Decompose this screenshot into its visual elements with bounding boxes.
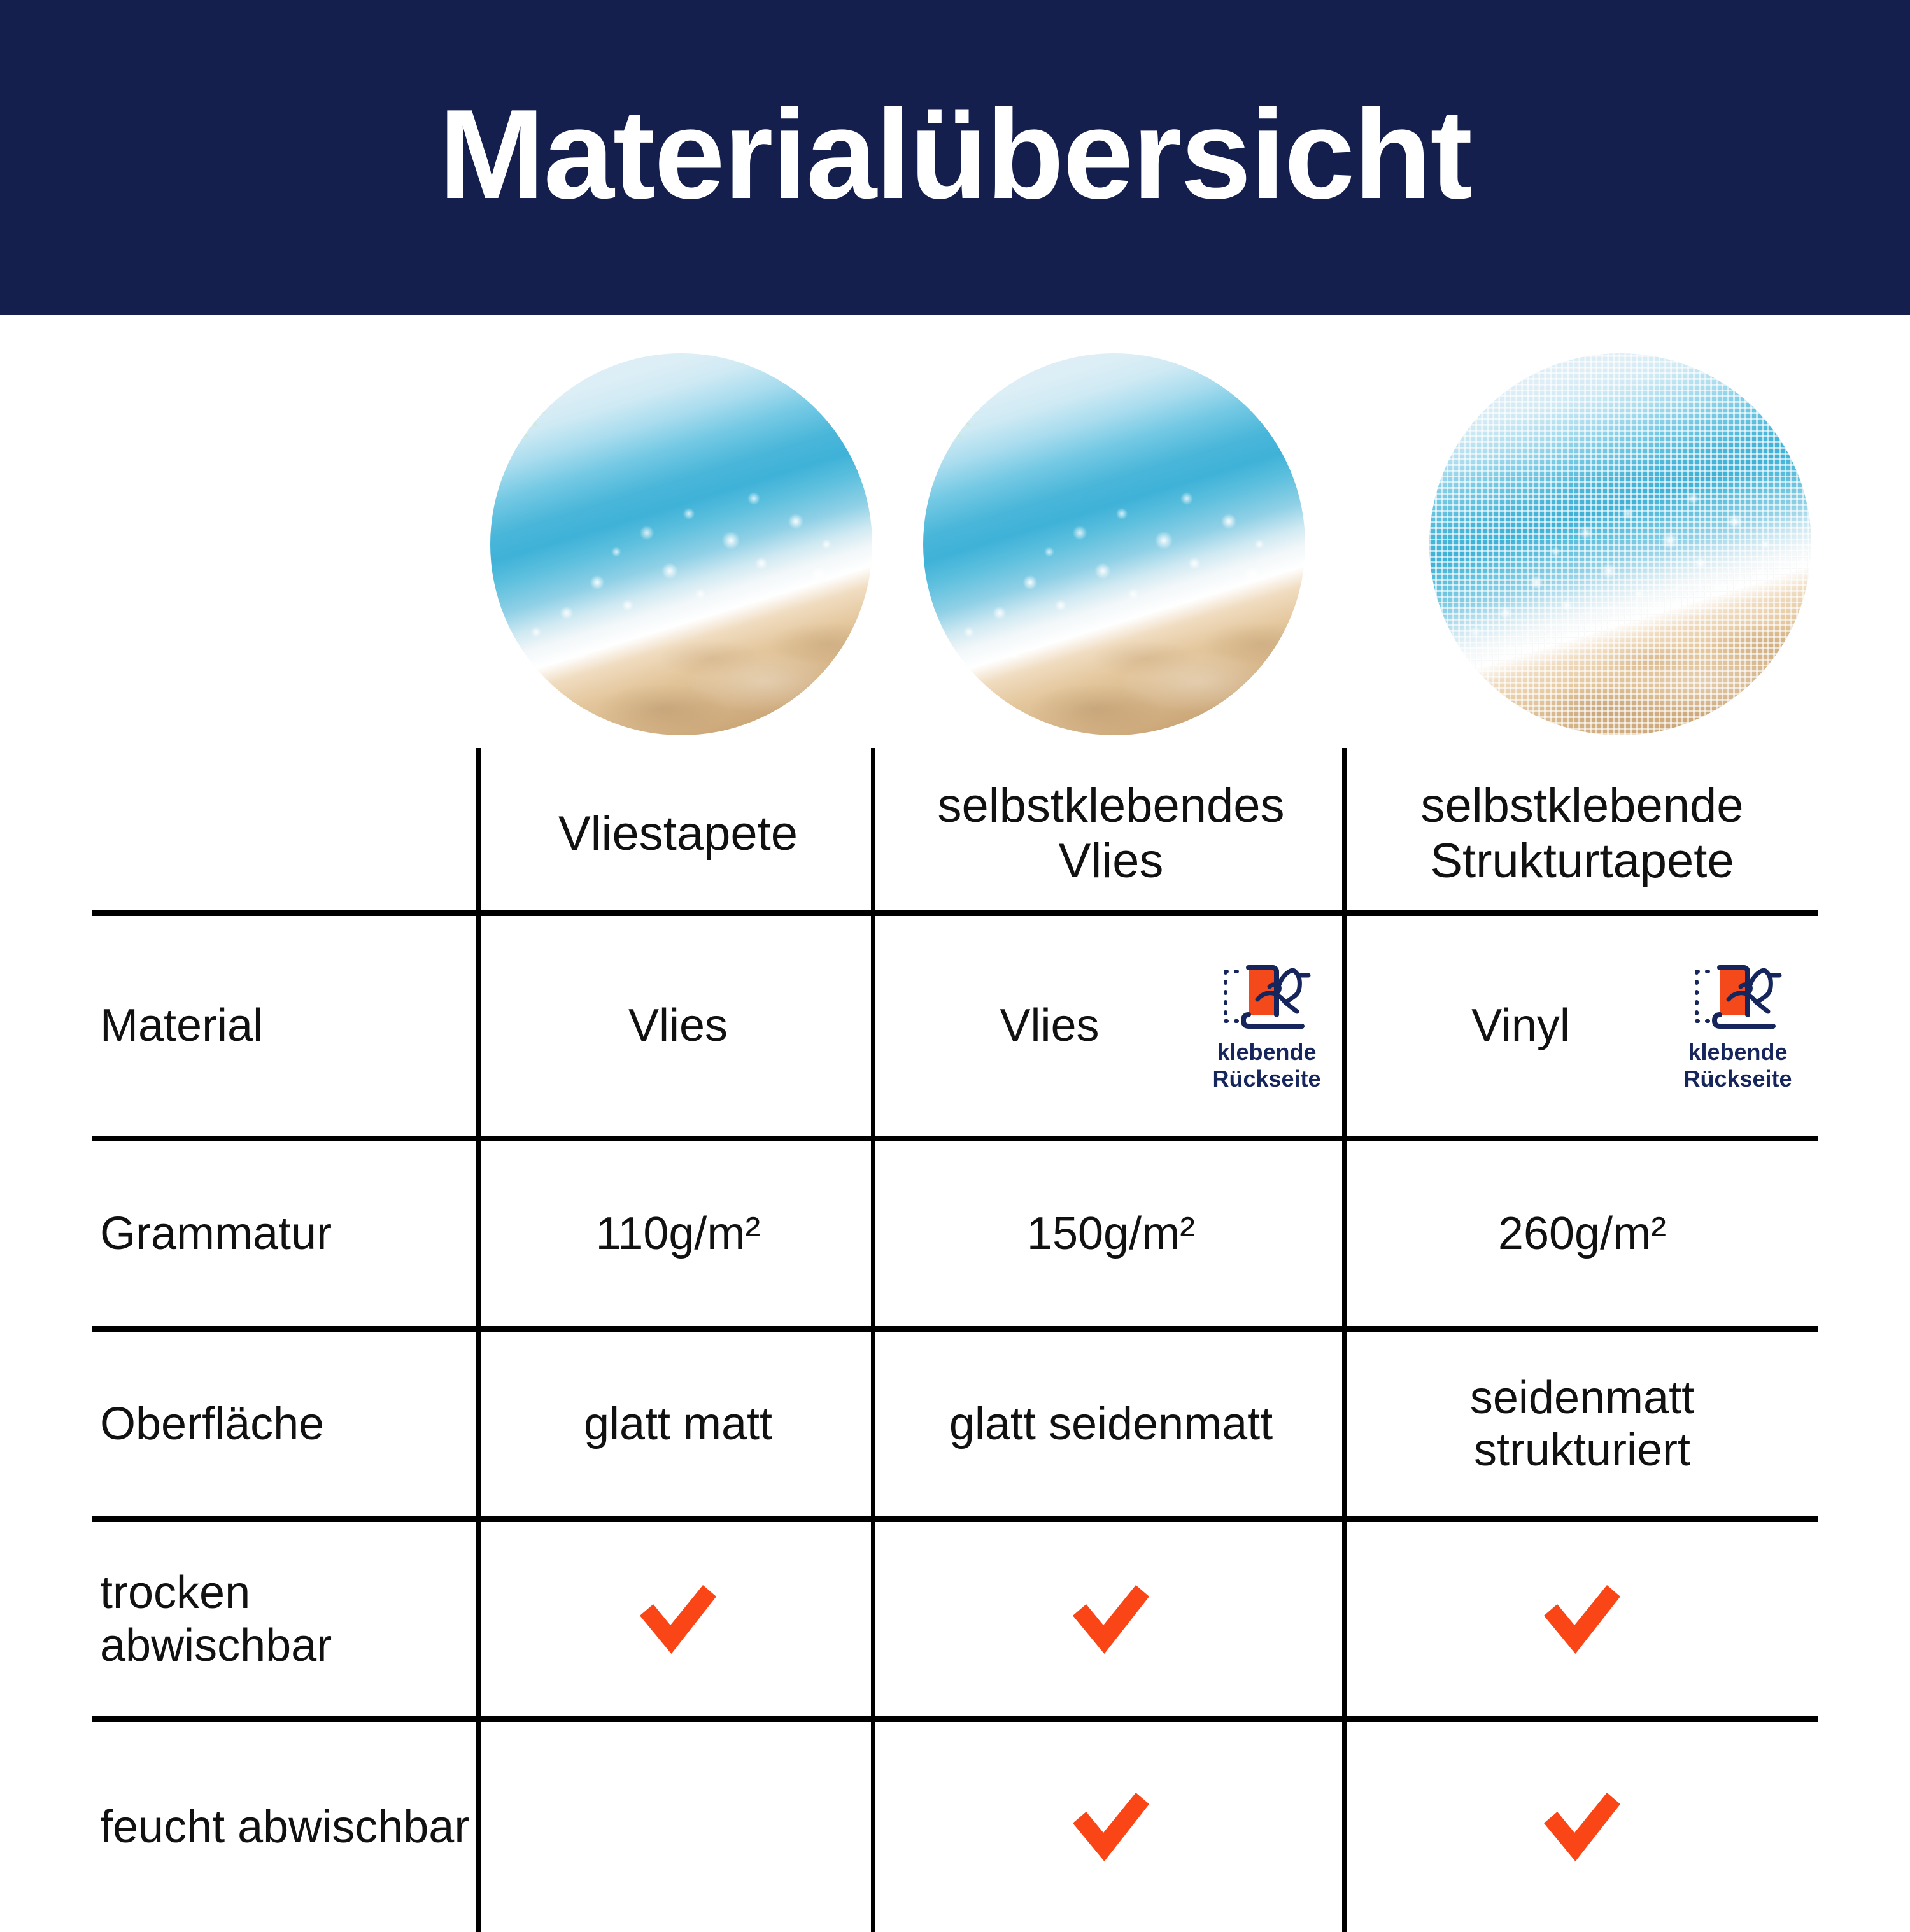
- cell-grammatur-selbstklebende-strukturtapete: 260g/m²: [1347, 1141, 1818, 1326]
- material-comparison-table: Vliestapete selbstklebendes Vlies selbst…: [92, 758, 1818, 1932]
- table-corner-cell: [92, 758, 481, 910]
- table-row: Material Vlies Vlies klebendeRückseite: [92, 916, 1818, 1136]
- empty-cell: [678, 1827, 679, 1828]
- beach-photo-image: [490, 353, 872, 735]
- cell-oberflaeche-vliestapete: glatt matt: [481, 1332, 875, 1516]
- column-header-selbstklebendes-vlies: selbstklebendes Vlies: [875, 758, 1347, 910]
- cell-value: Vlies: [901, 999, 1198, 1052]
- row-label-grammatur: Grammatur: [92, 1141, 481, 1326]
- cell-feucht-selbstklebendes-vlies: [875, 1722, 1347, 1932]
- cell-trocken-vliestapete: [481, 1522, 875, 1716]
- cell-material-selbstklebende-strukturtapete: Vinyl klebendeRückseite: [1347, 916, 1818, 1136]
- checkmark-icon: [630, 1572, 726, 1667]
- table-row: Grammatur 110g/m² 150g/m² 260g/m²: [92, 1141, 1818, 1326]
- table-rule: [92, 910, 1818, 916]
- table-row: Oberfläche glatt matt glatt seidenmatt s…: [92, 1332, 1818, 1516]
- cell-trocken-selbstklebende-strukturtapete: [1347, 1522, 1818, 1716]
- cell-grammatur-vliestapete: 110g/m²: [481, 1141, 875, 1326]
- badge-label: klebendeRückseite: [1683, 1039, 1792, 1092]
- adhesive-backing-icon: [1219, 960, 1315, 1035]
- table-rule: [92, 1516, 1818, 1522]
- selbstklebende-strukturtapete-swatch: [1429, 353, 1811, 735]
- column-header-selbstklebende-strukturtapete: selbstklebende Strukturtapete: [1347, 758, 1818, 910]
- checkmark-icon: [1063, 1572, 1159, 1667]
- cell-grammatur-selbstklebendes-vlies: 150g/m²: [875, 1141, 1347, 1326]
- table-header-row: Vliestapete selbstklebendes Vlies selbst…: [92, 758, 1818, 910]
- row-label-oberflaeche: Oberfläche: [92, 1332, 481, 1516]
- table-rule: [92, 1136, 1818, 1141]
- cell-material-vliestapete: Vlies: [481, 916, 875, 1136]
- table-row: feucht abwischbar: [92, 1722, 1818, 1932]
- table-row: trocken abwischbar: [92, 1522, 1818, 1716]
- cell-trocken-selbstklebendes-vlies: [875, 1522, 1347, 1716]
- beach-photo-image: [923, 353, 1305, 735]
- cell-feucht-selbstklebende-strukturtapete: [1347, 1722, 1818, 1932]
- material-swatch-row: [0, 353, 1910, 758]
- klebende-rueckseite-badge: klebendeRückseite: [1198, 960, 1335, 1092]
- cell-oberflaeche-selbstklebende-strukturtapete: seidenmatt strukturiert: [1347, 1332, 1818, 1516]
- klebende-rueckseite-badge: klebendeRückseite: [1669, 960, 1806, 1092]
- checkmark-icon: [1063, 1779, 1159, 1875]
- cell-material-selbstklebendes-vlies: Vlies klebendeRückseite: [875, 916, 1347, 1136]
- selbstklebendes-vlies-swatch: [923, 353, 1305, 735]
- checkmark-icon: [1534, 1779, 1630, 1875]
- cell-feucht-vliestapete: [481, 1722, 875, 1932]
- page-title: Materialübersicht: [439, 91, 1471, 218]
- table-rule: [92, 1326, 1818, 1332]
- row-label-feucht-abwischbar: feucht abwischbar: [92, 1722, 481, 1932]
- badge-label: klebendeRückseite: [1212, 1039, 1320, 1092]
- page-header: Materialübersicht: [0, 0, 1910, 315]
- checkmark-icon: [1534, 1572, 1630, 1667]
- row-label-trocken-abwischbar: trocken abwischbar: [92, 1522, 481, 1716]
- column-header-vliestapete: Vliestapete: [481, 758, 875, 910]
- cell-oberflaeche-selbstklebendes-vlies: glatt seidenmatt: [875, 1332, 1347, 1516]
- table-rule: [92, 1716, 1818, 1722]
- row-label-material: Material: [92, 916, 481, 1136]
- vliestapete-swatch: [490, 353, 872, 735]
- cell-value: Vinyl: [1372, 999, 1669, 1052]
- adhesive-backing-icon: [1690, 960, 1786, 1035]
- woven-texture-overlay: [1429, 353, 1811, 735]
